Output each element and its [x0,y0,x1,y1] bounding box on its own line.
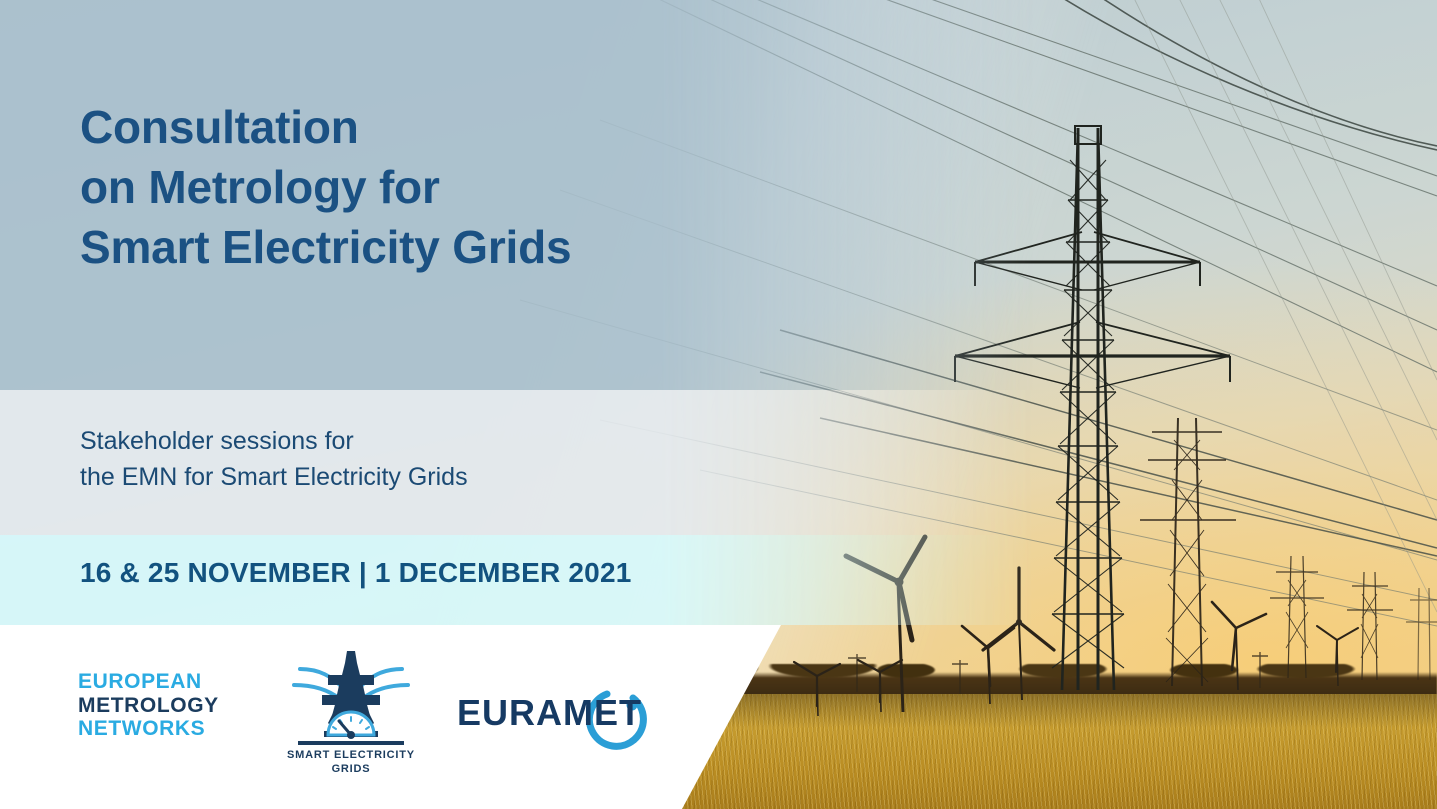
emn-line-european: EUROPEAN [78,670,219,694]
poster-canvas: Consultation on Metrology for Smart Elec… [0,0,1437,809]
seg-caption-line1: SMART ELECTRICITY [287,749,415,761]
poster-subtitle: Stakeholder sessions for the EMN for Sma… [80,424,468,495]
emn-line-networks: NETWORKS [78,717,219,741]
utility-poles [848,652,1268,694]
emn-line-metrology: METROLOGY [78,694,219,718]
poster-dates: 16 & 25 NOVEMBER | 1 DECEMBER 2021 [80,557,632,589]
seg-caption-line2: GRIDS [332,763,371,775]
logo-european-metrology-networks: EUROPEAN METROLOGY NETWORKS [78,670,219,741]
pylon-gauge-icon [276,645,426,745]
euramet-wordmark-icon: EURAMET [455,678,655,750]
poster-title: Consultation on Metrology for Smart Elec… [80,98,571,277]
euramet-text: EURAMET [457,692,642,733]
seg-caption: SMART ELECTRICITY GRIDS [276,749,426,777]
logo-smart-electricity-grids: SMART ELECTRICITY GRIDS [276,645,426,777]
logo-euramet: EURAMET [455,678,655,750]
